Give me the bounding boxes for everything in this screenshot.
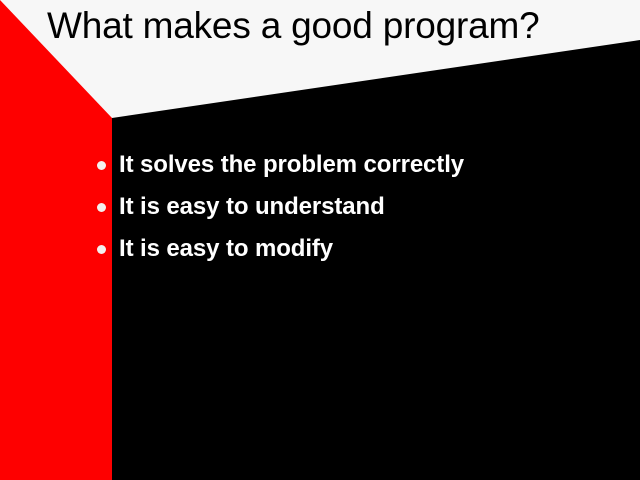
round-bullet-icon: [97, 161, 106, 170]
round-bullet-icon: [97, 203, 106, 212]
list-item: It is easy to understand: [92, 186, 612, 228]
list-item-label: It is easy to modify: [119, 228, 333, 270]
list-item-label: It solves the problem correctly: [119, 144, 464, 186]
round-bullet-icon: [97, 245, 106, 254]
list-item-label: It is easy to understand: [119, 186, 385, 228]
presentation-slide: What makes a good program? It solves the…: [0, 0, 640, 480]
list-item: It solves the problem correctly: [92, 144, 612, 186]
slide-bullet-list: It solves the problem correctly It is ea…: [92, 144, 612, 270]
slide-title-block: What makes a good program?: [47, 2, 607, 52]
list-item: It is easy to modify: [92, 228, 612, 270]
page-title: What makes a good program?: [47, 2, 607, 50]
